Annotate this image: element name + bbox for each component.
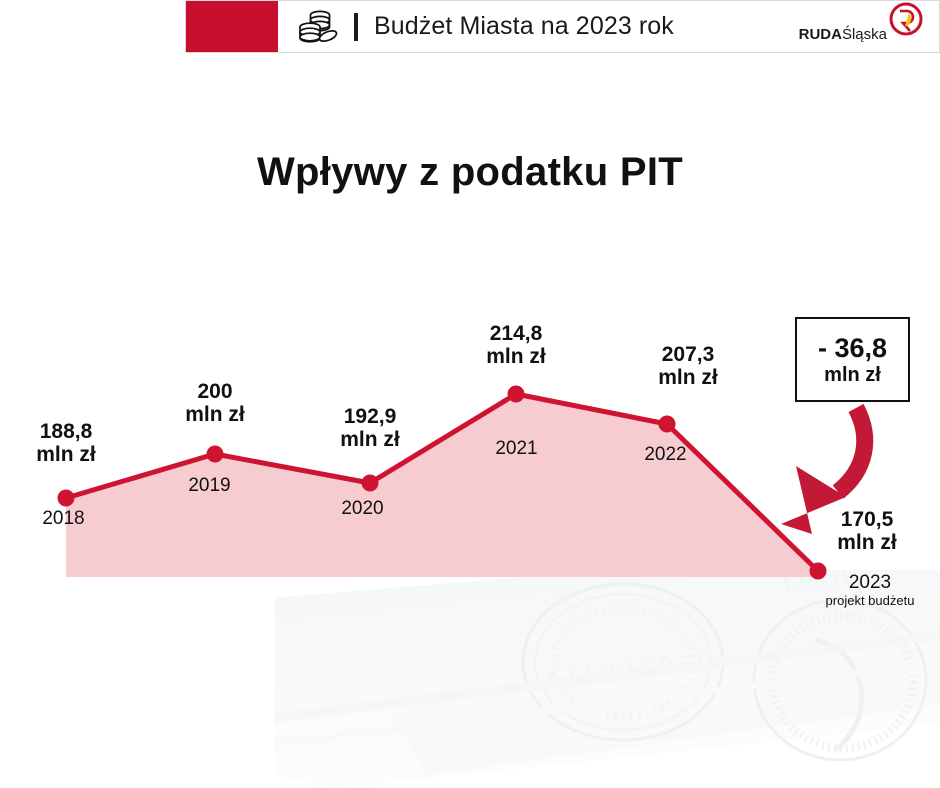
value-label-2022: 207,3 mln zł — [628, 343, 748, 389]
ruda-slaska-logo: RUDAŚląska — [799, 2, 929, 51]
category-text-2018: 2018 — [42, 508, 84, 529]
header-title: Budżet Miasta na 2023 rok — [374, 12, 674, 41]
value-label-2021: 214,8 mln zł — [456, 322, 576, 368]
category-label-2020: 2020 — [305, 498, 420, 519]
svg-text:SO: SO — [553, 587, 584, 615]
value-number-2023: 170,5 — [841, 508, 894, 531]
logo-wordmark: RUDAŚląska — [799, 26, 887, 51]
coins-stack-icon — [296, 7, 340, 47]
header-divider — [354, 13, 358, 41]
category-text-2019: 2019 — [188, 475, 230, 496]
header-red-accent-block — [186, 1, 278, 52]
category-label-2022: 2022 — [608, 444, 723, 465]
value-number-2021: 214,8 — [490, 322, 543, 345]
value-unit-2020: mln zł — [340, 428, 400, 451]
value-unit-2019: mln zł — [185, 403, 245, 426]
header-banner: Budżet Miasta na 2023 rok RUDAŚląska — [185, 0, 940, 53]
value-number-2022: 207,3 — [662, 343, 715, 366]
value-number-2020: 192,9 — [344, 405, 397, 428]
value-number-2018: 188,8 — [40, 420, 93, 443]
category-label-2023: 2023 projekt budżetu — [805, 572, 935, 609]
value-label-2019: 200 mln zł — [155, 380, 275, 426]
value-label-2023: 170,5 mln zł — [807, 508, 927, 554]
data-point-2018 — [58, 490, 75, 507]
category-text-2022: 2022 — [644, 444, 686, 465]
value-unit-2023: mln zł — [837, 531, 897, 554]
ruda-slaska-crest-icon — [889, 2, 923, 41]
value-label-2020: 192,9 mln zł — [310, 405, 430, 451]
category-text-2023: 2023 — [849, 572, 891, 593]
delta-unit: mln zł — [824, 363, 881, 387]
data-point-2020 — [362, 475, 379, 492]
category-label-2019: 2019 — [152, 475, 267, 496]
value-unit-2022: mln zł — [658, 366, 718, 389]
category-text-2021: 2021 — [495, 438, 537, 459]
header-content: Budżet Miasta na 2023 rok RUDAŚląska — [278, 1, 939, 52]
value-number-2019: 200 — [197, 380, 232, 403]
logo-name-bold: RUDA — [799, 26, 842, 43]
category-text-2020: 2020 — [341, 498, 383, 519]
value-unit-2018: mln zł — [36, 443, 96, 466]
data-point-2021 — [508, 386, 525, 403]
svg-text:A I 1 2 2 6 0 5 9: A I 1 2 2 6 0 5 9 — [542, 647, 713, 696]
data-point-2019 — [207, 446, 224, 463]
delta-value: - 36,8 — [818, 333, 887, 363]
value-label-2018: 188,8 mln zł — [6, 420, 126, 466]
value-unit-2021: mln zł — [486, 345, 546, 368]
category-label-2018: 2018 — [6, 508, 121, 529]
data-point-2022 — [659, 416, 676, 433]
page-title: Wpływy z podatku PIT — [0, 150, 940, 195]
category-sublabel-2023: projekt budżetu — [805, 593, 935, 609]
logo-name-light: Śląska — [842, 26, 887, 43]
category-label-2021: 2021 — [459, 438, 574, 459]
delta-callout-box: - 36,8 mln zł — [795, 317, 910, 402]
